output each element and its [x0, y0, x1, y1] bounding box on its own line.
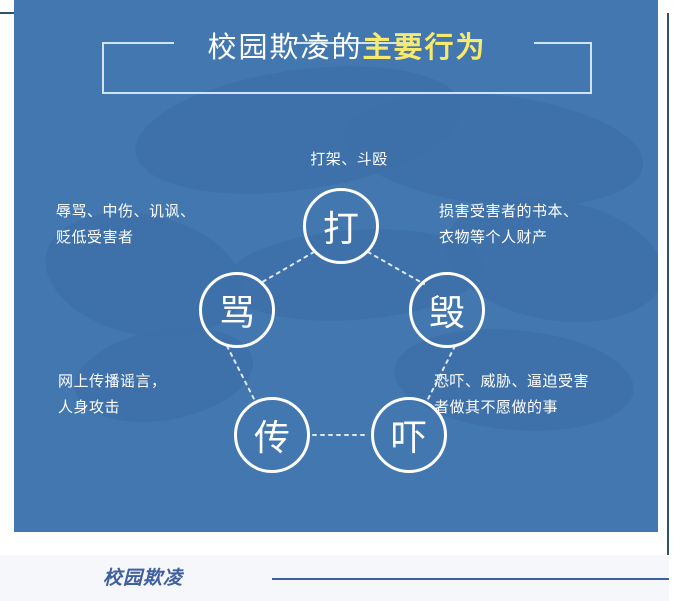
- page-title-plain: 校园欺凌的: [207, 30, 362, 64]
- poster-panel: 校园欺凌的主要行为 打 骂 毁 传 吓 打架、斗殴 辱骂、中伤、讥讽、 贬低受害…: [14, 0, 658, 532]
- page-title: 校园欺凌的主要行为: [102, 30, 592, 64]
- note-right-lower: 恐吓、威胁、逼迫受害 者做其不愿做的事: [434, 368, 634, 420]
- node-ma[interactable]: 骂: [199, 272, 275, 348]
- note-right-upper: 损害受害者的书本、 衣物等个人财产: [439, 198, 649, 250]
- node-hui[interactable]: 毁: [409, 272, 485, 348]
- node-chuan[interactable]: 传: [234, 397, 310, 473]
- frame-line-right: [667, 13, 669, 573]
- footer-label: 校园欺凌: [103, 563, 183, 590]
- note-left-lower: 网上传播谣言， 人身攻击: [58, 368, 238, 420]
- note-left-upper: 辱骂、中伤、讥讽、 贬低受害者: [56, 198, 246, 250]
- node-da[interactable]: 打: [303, 188, 379, 264]
- note-top: 打架、斗殴: [259, 146, 439, 172]
- page-title-highlight: 主要行为: [363, 30, 487, 64]
- footer-rule: [272, 578, 669, 580]
